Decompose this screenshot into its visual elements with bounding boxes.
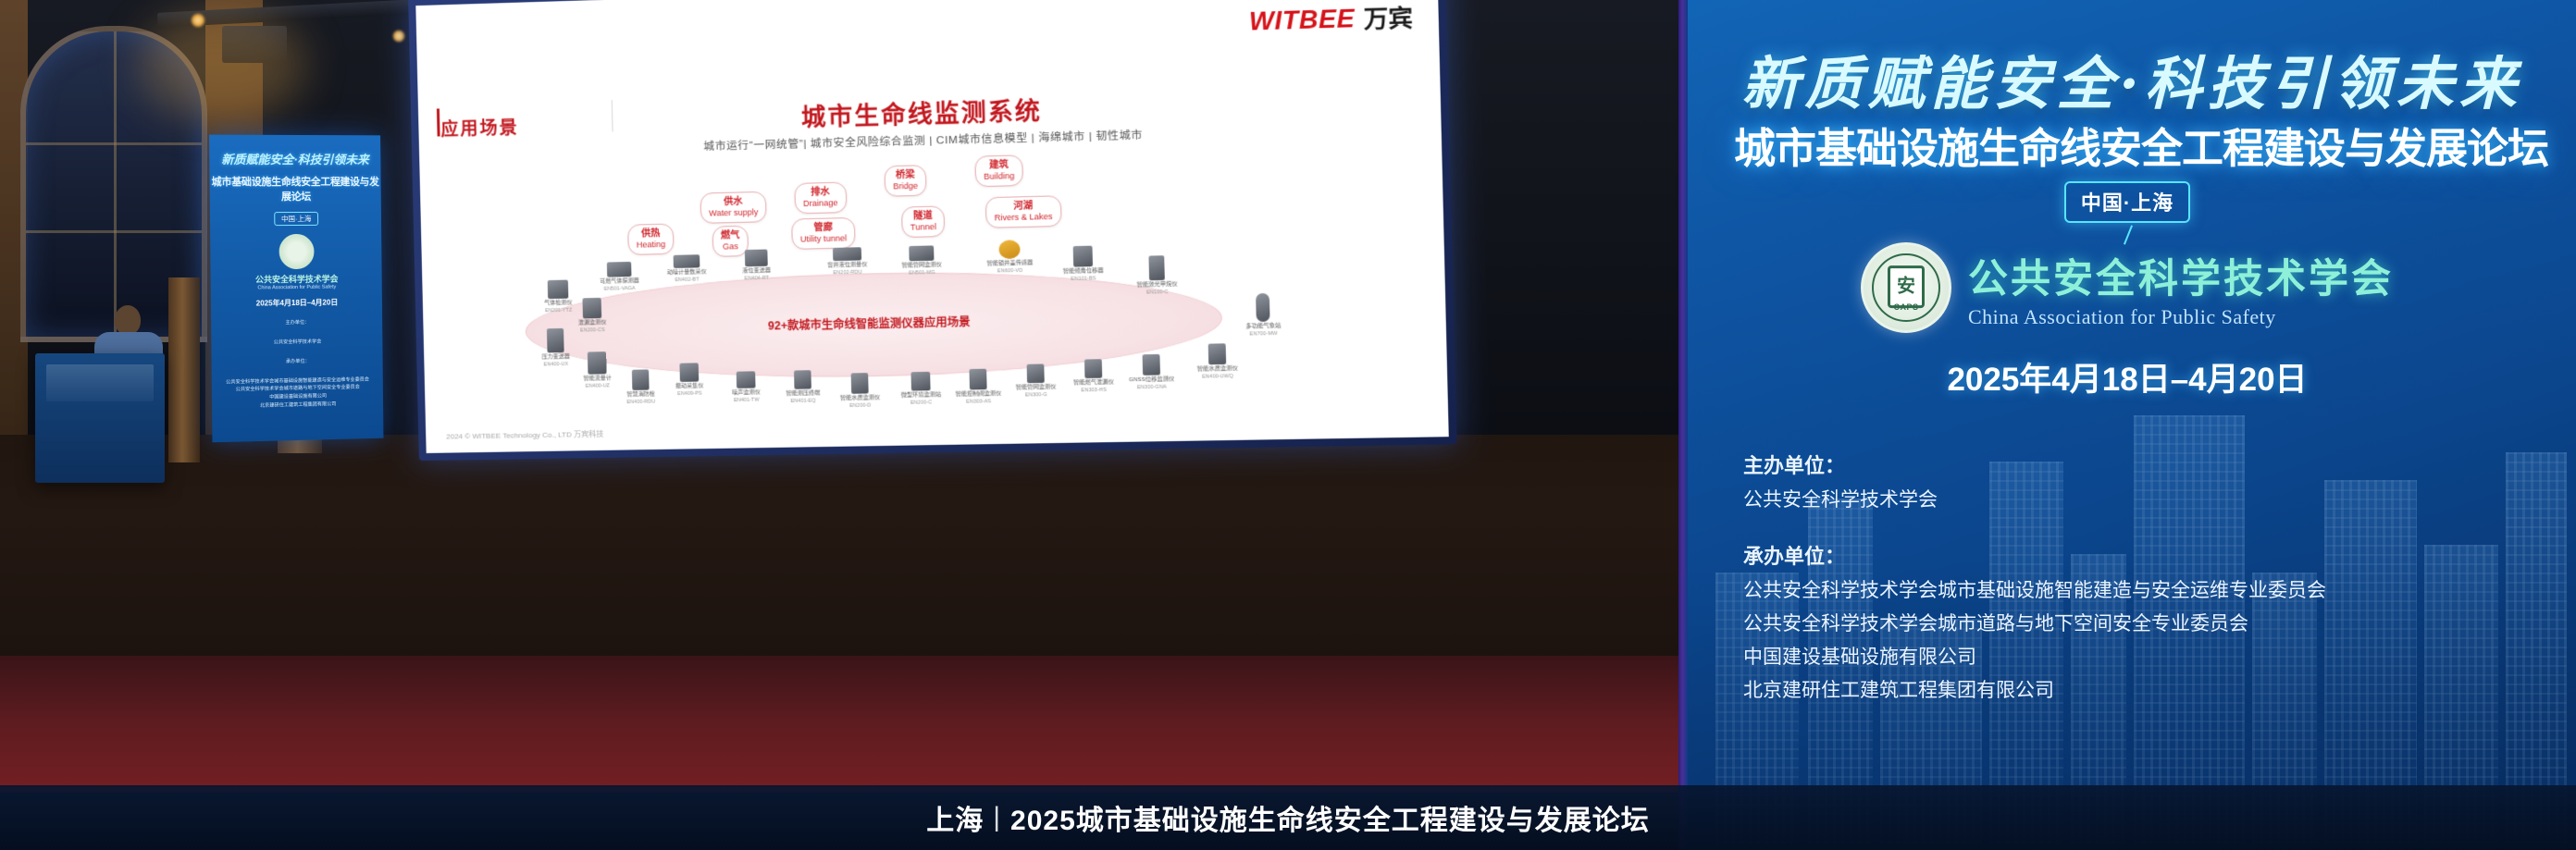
scenario-en: Tunnel [910,221,936,231]
caption-city: 上海 [926,797,984,838]
association-name-cn: 公共安全科学技术学会 [1968,247,2394,304]
conference-date: 2025年4月18日–4月20日 [1678,353,2576,400]
mini-organizer-label: 承办单位： [212,356,383,367]
scenario-pill-rivers-lakes: 河湖 Rivers & Lakes [985,195,1061,228]
scenario-cn: 隧道 [910,211,935,222]
device-item: 液位变送器 EN404-RT [722,249,790,281]
venue-hall: 新质赋能安全·科技引领未来 城市基础设施生命线安全工程建设与发展论坛 中国·上海… [0,0,1684,850]
caps-seal-glyph: 安 [1897,271,1915,298]
mini-organizers: 公共安全科学技术学会城市基础设施智能建造与安全运维专业委员会 公共安全科学技术学… [212,376,383,412]
scenario-cn: 燃气 [721,230,740,241]
mini-forum-title: 城市基础设施生命线安全工程建设与发展论坛 [209,174,380,203]
scenario-en: Building [984,170,1014,180]
stage-led-panel: 新质赋能安全·科技引领未来 城市基础设施生命线安全工程建设与发展论坛 中国·上海… [209,135,383,443]
scenario-pill-heating: 供热 Heating [627,224,674,255]
scenario-cn: 桥梁 [893,169,918,180]
calligraphy-headline: 新质赋能安全·科技引领未来 [1734,37,2530,120]
scenario-en: Utility tunnel [800,233,848,244]
association-text: 公共安全科学技术学会 China Association for Public … [1968,247,2394,329]
warm-glow-b [139,9,305,120]
location-badge-text: 中国·上海 [2064,181,2190,223]
scenario-pill-water-supply: 供水 Water supply [700,191,766,224]
scenario-en: Drainage [803,198,838,208]
caps-abbr: CAPS [1864,302,1949,312]
association-block: 安 CAPS 公共安全科学技术学会 China Association for … [1678,242,2576,333]
scenario-cn: 排水 [803,187,838,199]
organizer-item: 北京建研住工建筑工程集团有限公司 [1743,675,2557,707]
caption-title: 2025城市基础设施生命线安全工程建设与发展论坛 [1010,797,1650,838]
mini-host-label: 主办单位： [211,318,382,328]
organizers-block: 主办单位： 公共安全科学技术学会 承办单位： 公共安全科学技术学会城市基础设施智… [1743,450,2557,708]
organizer-item: 公共安全科学技术学会城市道路与地下空间安全专业委员会 [1743,609,2557,640]
device-model: EN200-D [826,402,895,409]
device-model: EN600-VD [975,267,1045,275]
slide-canvas: WITBEE 万宾 应用场景 城市生命线监测系统 城市运行“一网统管”| 城市安… [415,0,1448,453]
device-model: EN400-UWQ [1183,373,1253,380]
device-model: EN101-BS [1048,275,1118,282]
spotlight-b [392,30,405,43]
device-model: EN700-MW [1228,330,1298,338]
main-led-backdrop: 新质赋能安全·科技引领未来 城市基础设施生命线安全工程建设与发展论坛 中国·上海… [1678,0,2576,850]
scenario-en: Water supply [709,207,758,218]
scenario-pill-building: 建筑 Building [974,154,1023,187]
device-item: 多功能气象站 EN700-MW [1227,292,1298,337]
brand-name-cn: 万宾 [1363,0,1413,35]
device-item: GNSS位移监测仪 EN300-GNA [1116,353,1186,390]
device-model: EN300-GNA [1117,384,1187,390]
scenario-en: Bridge [893,180,918,191]
caption-separator: | [993,802,1001,833]
device-item: 智能倾角位移器 EN101-BS [1048,245,1119,282]
location-badge: 中国·上海 [1678,181,2576,223]
podium-signage [46,364,154,401]
device-item: 智能锁井盖传感器 EN600-VD [974,240,1045,275]
speaker-head [115,305,141,335]
host-item: 公共安全科学技术学会 [1743,485,2557,516]
association-name-en: China Association for Public Safety [1968,305,2394,329]
projection-screen: WITBEE 万宾 应用场景 城市生命线监测系统 城市运行“一网统管”| 城市安… [415,0,1448,453]
mini-location-badge: 中国·上海 [274,212,318,226]
scenario-pill-bridge: 桥梁 Bridge [884,165,926,196]
scenario-pill-tunnel: 隧道 Tunnel [901,205,945,237]
device-item: 智能水质监测仪 EN400-UWQ [1182,343,1253,380]
mini-calligraphy-headline: 新质赋能安全·科技引领未来 [209,150,380,167]
device-item: 可燃气体探测器 EN501-VAGA [586,261,654,291]
scenario-cn: 供热 [636,228,665,240]
device-item: 智能管网监测仪 EN501-MG [887,245,957,277]
scenario-en: Rivers & Lakes [994,211,1052,222]
mini-association-en: China Association for Public Safety [211,284,382,291]
host-label: 主办单位： [1743,450,2557,479]
mini-conference-date: 2025年4月18日–4月20日 [211,297,382,309]
led-left-edge [1678,0,1688,850]
device-item: 动噪计量数采仪 EN402-BT [652,254,721,283]
conference-photo-stage: 新质赋能安全·科技引领未来 城市基础设施生命线安全工程建设与发展论坛 中国·上海… [0,0,2576,850]
organizer-label: 承办单位： [1743,540,2557,570]
hall-pillar-b [168,277,200,462]
organizer-item: 公共安全科学技术学会城市基础设施智能建造与安全运维专业委员会 [1743,575,2557,607]
scenario-cn: 建筑 [984,160,1015,172]
bottom-caption-bar: 上海 | 2025城市基础设施生命线安全工程建设与发展论坛 [0,785,2576,850]
device-item: 窨井液位测量仪 EN202-RDU [812,247,882,277]
device-item: 智能激光甲烷仪 EN100-C [1121,255,1192,296]
device-model: EN400-RDU [607,399,675,405]
device-item: 智能水质监测仪 EN200-D [825,373,895,409]
scenario-en: Heating [637,239,666,249]
mini-caps-logo-icon [279,234,314,269]
forum-title: 城市基础设施生命线安全工程建设与发展论坛 [1706,115,2576,175]
brand-name-en: WITBEE [1249,4,1356,36]
scenario-pill-drainage: 排水 Drainage [794,182,847,215]
caps-seal-icon: 安 CAPS [1861,242,1951,333]
organizer-item: 中国建设基础设施有限公司 [1743,642,2557,673]
device-model: EN303-AS [944,398,1013,404]
mini-host: 公共安全科学技术学会 [211,337,382,348]
scenario-pill-utility-tunnel: 管廊 Utility tunnel [791,217,856,250]
witbee-logo: WITBEE 万宾 [1248,0,1413,39]
slide-footnote: 2024 © WITBEE Technology Co., LTD 万宾科技 [446,429,603,442]
podium [35,353,165,483]
